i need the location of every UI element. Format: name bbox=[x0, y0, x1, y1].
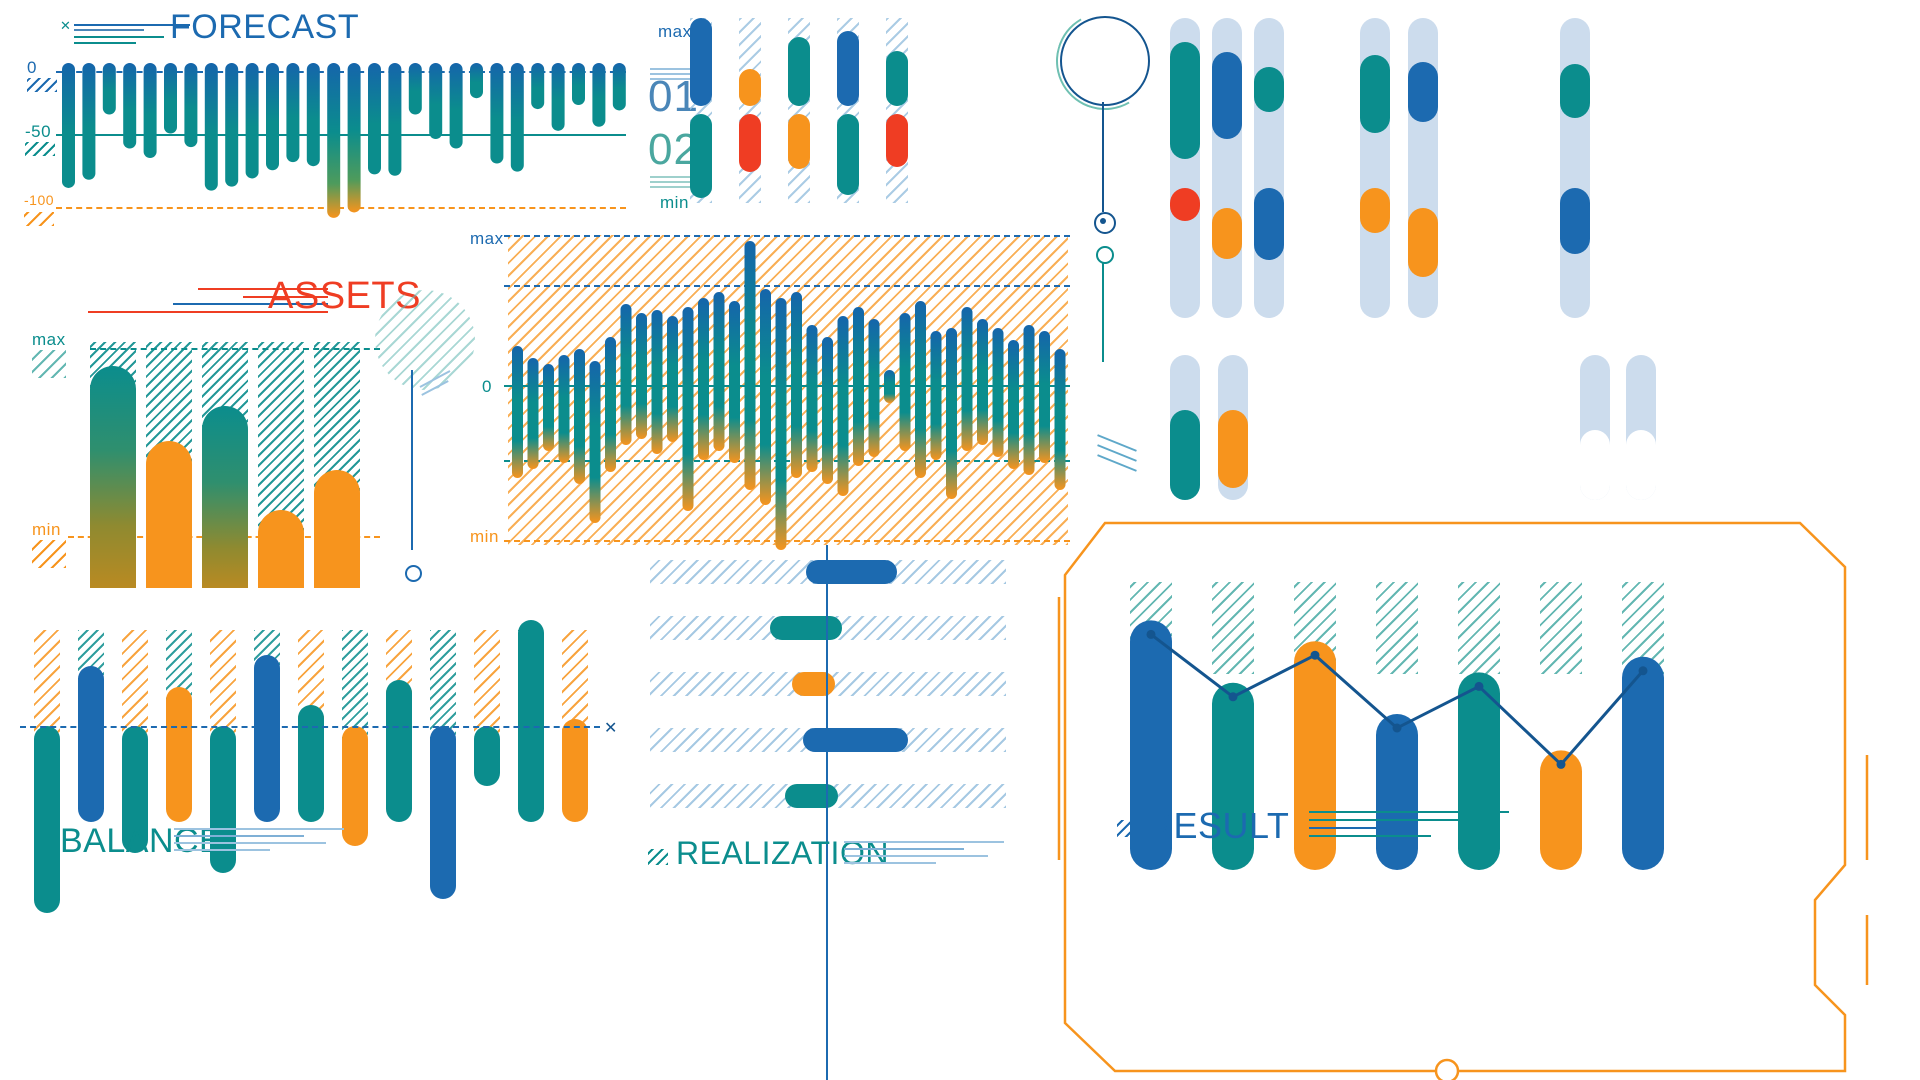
result-title-rule bbox=[1309, 811, 1509, 839]
bar bbox=[776, 298, 787, 550]
bar bbox=[592, 63, 605, 127]
gauge-value-lower bbox=[1212, 208, 1242, 259]
dial-circle-accent-arc bbox=[1045, 1, 1165, 121]
realization-bar bbox=[803, 728, 909, 752]
bar bbox=[729, 301, 740, 463]
result-section: RESULT bbox=[1055, 515, 1920, 1080]
assets-max-label: max bbox=[32, 330, 66, 350]
bar bbox=[745, 241, 756, 490]
bar bbox=[429, 63, 442, 139]
bar bbox=[409, 63, 422, 115]
gauge-value-lower bbox=[1360, 188, 1390, 233]
bar bbox=[470, 63, 483, 98]
assets-bar bbox=[314, 470, 360, 588]
scale-min-label: min bbox=[660, 193, 689, 213]
bar bbox=[123, 63, 136, 149]
scale-bar-01 bbox=[886, 51, 908, 106]
bar bbox=[559, 355, 570, 463]
assets-min-swatch bbox=[32, 540, 66, 568]
gauge-value-upper bbox=[1170, 42, 1200, 159]
gauge-value-lower bbox=[1560, 188, 1590, 254]
bar bbox=[1008, 340, 1019, 469]
scale-column-hatch bbox=[739, 18, 761, 203]
scale-bar-02 bbox=[886, 114, 908, 167]
scale-bar-02 bbox=[788, 114, 810, 169]
result-line-point bbox=[1147, 630, 1156, 639]
result-line-point bbox=[1639, 666, 1648, 675]
balance-bar-positive bbox=[386, 680, 412, 822]
bar bbox=[450, 63, 463, 149]
assets-max-swatch bbox=[32, 350, 66, 378]
assets-pointer-rule bbox=[418, 378, 458, 392]
bar bbox=[103, 63, 116, 115]
dial-node-dot bbox=[1100, 218, 1106, 224]
balance-bar-positive bbox=[562, 719, 588, 822]
center-distribution-section: max 0 min bbox=[460, 225, 1080, 545]
balance-section: ✕ BALANCE bbox=[0, 600, 640, 1080]
bar bbox=[543, 364, 554, 451]
center-bars bbox=[460, 225, 1080, 545]
balance-bar-positive bbox=[298, 705, 324, 822]
gauge-value-upper bbox=[1560, 64, 1590, 118]
bar bbox=[698, 298, 709, 460]
bar bbox=[915, 301, 926, 478]
bar bbox=[531, 63, 544, 109]
bar bbox=[853, 307, 864, 466]
scale-bar-02 bbox=[837, 114, 859, 195]
bar bbox=[636, 313, 647, 439]
assets-bar bbox=[202, 406, 248, 588]
balance-title-icon bbox=[38, 836, 56, 852]
scale-bar-01 bbox=[788, 37, 810, 106]
gauge-value-lower bbox=[1408, 208, 1438, 277]
bar bbox=[760, 289, 771, 505]
gauge-group-far-right bbox=[1580, 355, 1700, 505]
bar bbox=[838, 316, 849, 496]
assets-section: ASSETS max min bbox=[0, 270, 500, 600]
balance-bar-negative bbox=[34, 726, 60, 913]
bar bbox=[822, 337, 833, 484]
bar bbox=[900, 313, 911, 451]
balance-bar-negative bbox=[342, 726, 368, 846]
bar bbox=[368, 63, 381, 174]
bar bbox=[511, 63, 524, 172]
scale-bar-02 bbox=[739, 114, 761, 172]
bar bbox=[307, 63, 320, 166]
realization-bar bbox=[806, 560, 897, 584]
balance-title-rule bbox=[174, 828, 344, 854]
gauge-value bbox=[1170, 410, 1200, 500]
gauge-value-upper bbox=[1212, 52, 1242, 139]
realization-title-rule bbox=[844, 841, 1004, 867]
assets-bar bbox=[90, 366, 136, 588]
assets-bar bbox=[258, 510, 304, 588]
bar bbox=[286, 63, 299, 162]
result-chart bbox=[1105, 570, 1725, 930]
balance-bar-positive bbox=[78, 666, 104, 822]
bar bbox=[144, 63, 157, 158]
gauge-value-lower bbox=[1170, 188, 1200, 221]
bar bbox=[388, 63, 401, 176]
bar bbox=[266, 63, 279, 170]
result-line-point bbox=[1311, 651, 1320, 660]
scale-columns bbox=[690, 0, 920, 210]
bar bbox=[962, 307, 973, 451]
bar bbox=[1376, 714, 1418, 870]
gauge-value-upper bbox=[1254, 67, 1284, 112]
result-title-icon bbox=[1117, 820, 1137, 837]
assets-bar bbox=[146, 441, 192, 588]
bar bbox=[977, 319, 988, 445]
bar bbox=[184, 63, 197, 147]
bar bbox=[62, 63, 75, 188]
bar bbox=[884, 370, 895, 403]
result-line-point bbox=[1393, 724, 1402, 733]
bar bbox=[246, 63, 259, 178]
bar bbox=[490, 63, 503, 163]
bar bbox=[528, 358, 539, 469]
bar bbox=[621, 304, 632, 445]
bar bbox=[931, 331, 942, 460]
assets-columns bbox=[90, 330, 390, 590]
bar bbox=[652, 310, 663, 454]
realization-section: REALIZATION bbox=[640, 545, 1040, 1080]
bar bbox=[993, 328, 1004, 457]
assets-min-label: min bbox=[32, 520, 61, 540]
bar bbox=[574, 349, 585, 484]
balance-bar-positive bbox=[166, 687, 192, 822]
gauge-value-upper bbox=[1360, 55, 1390, 133]
gauge-group-lower bbox=[1160, 355, 1920, 505]
bar bbox=[572, 63, 585, 105]
scale-bar-01 bbox=[690, 18, 712, 106]
scale-bar-01 bbox=[837, 31, 859, 106]
balance-bar-positive bbox=[254, 655, 280, 822]
bar bbox=[164, 63, 177, 134]
balance-bar-negative bbox=[430, 726, 456, 899]
bar bbox=[590, 361, 601, 523]
result-line-point bbox=[1475, 682, 1484, 691]
bar bbox=[1039, 331, 1050, 463]
balance-baseline bbox=[20, 726, 600, 728]
bar bbox=[348, 63, 361, 212]
bar bbox=[714, 292, 725, 451]
bar bbox=[605, 337, 616, 472]
realization-title-icon bbox=[648, 849, 668, 865]
assets-pointer-line bbox=[411, 370, 413, 550]
realization-bar bbox=[792, 672, 835, 696]
dial-lower-rule bbox=[1096, 440, 1142, 470]
bar bbox=[327, 63, 340, 218]
gauge-group-top bbox=[1160, 18, 1920, 338]
balance-columns bbox=[20, 620, 600, 1020]
bar bbox=[613, 63, 626, 110]
balance-bar-negative bbox=[474, 726, 500, 786]
bar bbox=[667, 316, 678, 442]
bar bbox=[1024, 325, 1035, 475]
realization-rows bbox=[650, 560, 1020, 830]
realization-bar bbox=[770, 616, 842, 640]
scale-max-label: max bbox=[658, 22, 692, 42]
gauge-value-lower bbox=[1254, 188, 1284, 260]
bar bbox=[512, 346, 523, 478]
result-title: RESULT bbox=[1147, 805, 1289, 847]
right-gauges-section bbox=[1050, 0, 1920, 520]
forecast-section: ✕ FORECAST 0 -50 -100 bbox=[0, 0, 660, 250]
scale-column-hatch bbox=[886, 18, 908, 203]
assets-pointer-node bbox=[405, 565, 422, 582]
gauge-value-hatched bbox=[1580, 430, 1610, 500]
gauge-value-hatched bbox=[1626, 430, 1656, 500]
bar bbox=[205, 63, 218, 191]
scale-bar-02 bbox=[690, 114, 712, 198]
bar bbox=[807, 325, 818, 472]
forecast-bars bbox=[0, 0, 660, 250]
bar bbox=[683, 307, 694, 511]
bar bbox=[82, 63, 95, 180]
dial-connector-line bbox=[1102, 102, 1104, 212]
dial-small-circle-icon bbox=[1096, 246, 1114, 264]
result-line-point bbox=[1557, 760, 1566, 769]
balance-x-marker-icon: ✕ bbox=[604, 718, 617, 738]
gauge-value-upper bbox=[1408, 62, 1438, 122]
bar bbox=[552, 63, 565, 131]
realization-bar bbox=[785, 784, 838, 808]
balance-bar-positive bbox=[518, 620, 544, 822]
bar bbox=[869, 319, 880, 457]
gauge-value bbox=[1218, 410, 1248, 488]
bar bbox=[946, 328, 957, 499]
bar bbox=[791, 292, 802, 478]
bar bbox=[225, 63, 238, 187]
realization-vertical-axis bbox=[826, 545, 828, 1080]
scale-bar-01 bbox=[739, 69, 761, 106]
dial-lower-line bbox=[1102, 262, 1104, 362]
gauge-track bbox=[1254, 18, 1284, 318]
scale-0102-section: max min 01 02 bbox=[640, 0, 920, 220]
result-line-point bbox=[1229, 692, 1238, 701]
